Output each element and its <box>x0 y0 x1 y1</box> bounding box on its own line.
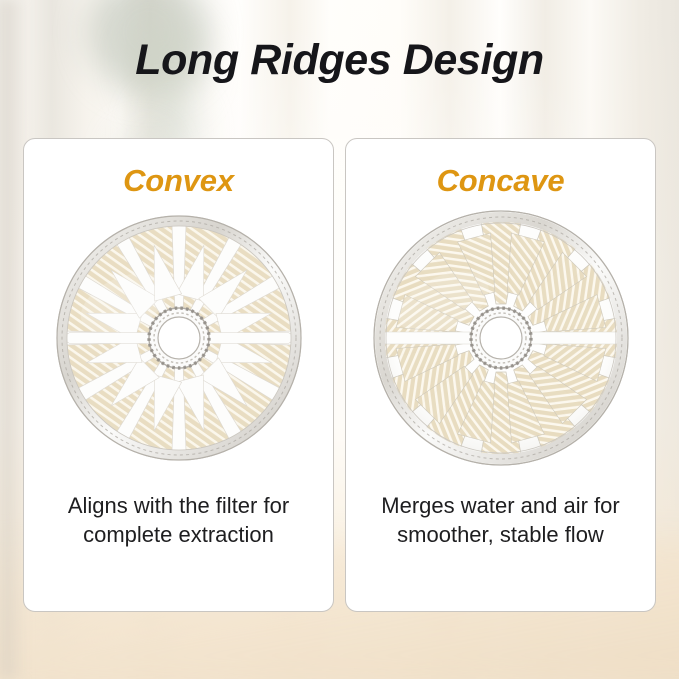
card-convex-caption: Aligns with the filter for complete extr… <box>40 491 317 549</box>
page-title: Long Ridges Design <box>0 36 679 85</box>
card-concave: Concave <box>345 138 656 612</box>
convex-disc-image <box>24 203 333 473</box>
card-concave-caption: Merges water and air for smoother, stabl… <box>362 491 639 549</box>
card-concave-heading: Concave <box>346 163 655 199</box>
infographic-stage: Long Ridges Design Convex <box>0 0 679 679</box>
convex-ridge-disc-svg <box>48 207 310 469</box>
card-convex-heading: Convex <box>24 163 333 199</box>
card-convex: Convex <box>23 138 334 612</box>
concave-disc-image <box>346 203 655 473</box>
concave-ridge-disc-svg <box>367 204 635 472</box>
